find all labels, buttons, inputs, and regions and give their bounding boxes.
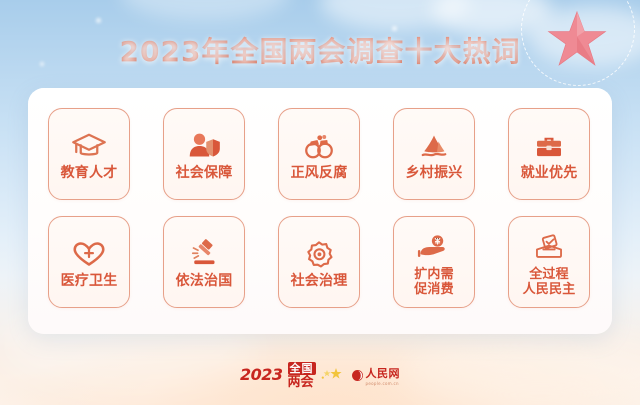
handcuffs-icon bbox=[301, 127, 337, 165]
hotword-label: 社会保障 bbox=[176, 166, 233, 181]
hotword-label: 正风反腐 bbox=[291, 166, 348, 181]
hotword-label: 全过程 人民民主 bbox=[523, 267, 576, 297]
hotword-label: 教育人才 bbox=[61, 166, 118, 181]
hotword-card-social-governance[interactable]: 社会治理 bbox=[278, 216, 360, 308]
hotword-card-rural-revitalization[interactable]: 乡村振兴 bbox=[393, 108, 475, 200]
hotword-card-social-security[interactable]: 社会保障 bbox=[163, 108, 245, 200]
hotword-label: 社会治理 bbox=[291, 274, 348, 289]
gear-icon bbox=[301, 235, 337, 273]
logo-badge-bottom: 两会 bbox=[288, 376, 316, 389]
hotword-label: 乡村振兴 bbox=[406, 166, 463, 181]
person-shield-icon bbox=[186, 127, 222, 165]
briefcase-icon bbox=[531, 127, 567, 165]
publisher-name: 人民网 bbox=[366, 365, 401, 381]
hand-coin-icon bbox=[417, 228, 451, 266]
hotword-card-rule-of-law[interactable]: 依法治国 bbox=[163, 216, 245, 308]
heart-plus-icon bbox=[71, 235, 107, 273]
hotword-card-education[interactable]: 教育人才 bbox=[48, 108, 130, 200]
graduation-cap-icon bbox=[71, 127, 107, 165]
hotword-card-domestic-demand[interactable]: 扩内需 促消费 bbox=[393, 216, 475, 308]
people-daily-mark-icon bbox=[351, 369, 364, 382]
hotword-label: 扩内需 促消费 bbox=[414, 267, 454, 297]
logo-stars-decoration bbox=[321, 367, 343, 383]
hotword-label: 就业优先 bbox=[521, 166, 578, 181]
hotword-card-healthcare[interactable]: 医疗卫生 bbox=[48, 216, 130, 308]
cloud-decoration bbox=[320, 0, 470, 30]
infographic-canvas: 2023年全国两会调查十大热词 教育人才 bbox=[0, 0, 640, 405]
hotword-label: 依法治国 bbox=[176, 274, 233, 289]
page-title: 2023年全国两会调查十大热词 bbox=[0, 32, 640, 72]
gavel-icon bbox=[186, 235, 222, 273]
hotword-card-whole-process-democracy[interactable]: 全过程 人民民主 bbox=[508, 216, 590, 308]
hotword-card-employment[interactable]: 就业优先 bbox=[508, 108, 590, 200]
publisher-logo: 人民网 people.com.cn bbox=[351, 365, 401, 386]
sparkle-dot bbox=[392, 26, 397, 31]
mountain-icon bbox=[416, 127, 452, 165]
logo-year: 2023 bbox=[240, 367, 283, 383]
footer-logo: 2023 全国 两会 人民网 people.com.cn bbox=[0, 358, 640, 392]
sparkle-dot bbox=[96, 18, 101, 23]
publisher-url: people.com.cn bbox=[366, 381, 399, 386]
logo-badge-top: 全国 bbox=[288, 362, 316, 375]
cloud-decoration bbox=[120, 0, 290, 20]
logo-badge: 全国 两会 bbox=[288, 362, 316, 389]
ballot-box-icon bbox=[532, 228, 566, 266]
hotword-card-anticorruption[interactable]: 正风反腐 bbox=[278, 108, 360, 200]
hotword-grid: 教育人才 社会保障 bbox=[48, 108, 592, 318]
hotword-label: 医疗卫生 bbox=[61, 274, 118, 289]
